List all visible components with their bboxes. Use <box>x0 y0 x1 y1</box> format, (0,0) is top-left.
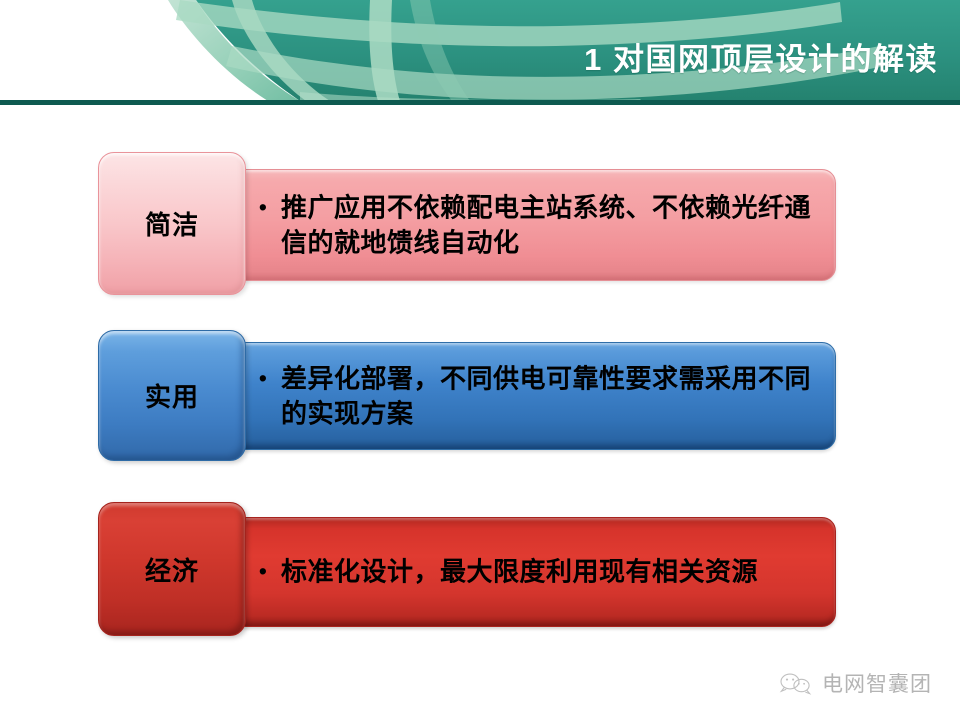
watermark-text: 电网智囊团 <box>822 668 932 698</box>
content-bar-jianjie[interactable]: 推广应用不依赖配电主站系统、不依赖光纤通信的就地馈线自动化 <box>232 169 836 281</box>
content-bar-text: 差异化部署，不同供电可靠性要求需采用不同的实现方案 <box>281 361 817 430</box>
label-box-text: 简洁 <box>145 205 199 242</box>
content-bar-text: 推广应用不依赖配电主站系统、不依赖光纤通信的就地馈线自动化 <box>281 190 817 259</box>
principle-row: 标准化设计，最大限度利用现有相关资源 经济 <box>0 502 960 639</box>
page-title: 1 对国网顶层设计的解读 <box>584 44 938 75</box>
content-bar-jingji[interactable]: 标准化设计，最大限度利用现有相关资源 <box>232 517 836 627</box>
principle-row: 差异化部署，不同供电可靠性要求需采用不同的实现方案 实用 <box>0 330 960 462</box>
watermark: 电网智囊团 <box>779 668 932 698</box>
wechat-icon <box>779 670 813 696</box>
header-divider <box>0 100 960 105</box>
content-bar-shiyong[interactable]: 差异化部署，不同供电可靠性要求需采用不同的实现方案 <box>232 342 836 450</box>
slide-canvas: 1 对国网顶层设计的解读 推广应用不依赖配电主站系统、不依赖光纤通信的就地馈线自… <box>0 0 960 720</box>
label-box-text: 实用 <box>145 377 199 414</box>
label-box-shiyong[interactable]: 实用 <box>98 330 246 461</box>
content-bar-text: 标准化设计，最大限度利用现有相关资源 <box>281 555 817 590</box>
principle-row: 推广应用不依赖配电主站系统、不依赖光纤通信的就地馈线自动化 简洁 <box>0 152 960 297</box>
label-box-jingji[interactable]: 经济 <box>98 502 246 636</box>
label-box-text: 经济 <box>145 551 199 588</box>
label-box-jianjie[interactable]: 简洁 <box>98 152 246 295</box>
slide-header: 1 对国网顶层设计的解读 <box>0 0 960 100</box>
